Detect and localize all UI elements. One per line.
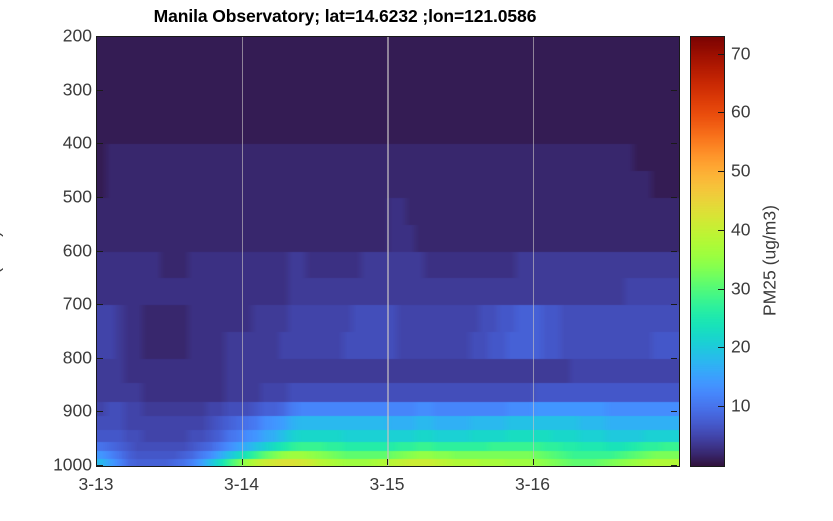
y-tick-label-700: 700 <box>63 294 92 315</box>
y-tick-label-1000: 1000 <box>53 455 92 476</box>
x-tick-mark-3-14 <box>242 459 243 465</box>
y-tick-label-400: 400 <box>63 133 92 154</box>
y-tick-mark-300 <box>671 90 677 91</box>
y-tick-mark-400 <box>671 143 677 144</box>
page-title: Manila Observatory; lat=14.6232 ;lon=121… <box>0 6 690 27</box>
y-tick-mark-900 <box>671 411 677 412</box>
y-tick-label-800: 800 <box>63 347 92 368</box>
y-tick-mark-300 <box>97 90 103 91</box>
y-tick-mark-400 <box>97 143 103 144</box>
y-tick-mark-900 <box>97 411 103 412</box>
heatmap-image <box>97 37 679 466</box>
colorbar-tick-label-40: 40 <box>731 219 750 240</box>
colorbar-tick-mark-70 <box>718 54 724 55</box>
y-tick-mark-500 <box>97 197 103 198</box>
x-tick-label-3-13: 3-13 <box>78 474 113 495</box>
x-tick-mark-3-15 <box>387 459 388 465</box>
colorbar <box>690 36 725 467</box>
colorbar-tick-mark-60 <box>718 112 724 113</box>
y-tick-label-900: 900 <box>63 401 92 422</box>
x-tick-label-3-14: 3-14 <box>224 474 259 495</box>
y-tick-mark-700 <box>97 304 103 305</box>
heatmap-axes <box>96 36 680 467</box>
colorbar-gradient <box>691 37 724 466</box>
colorbar-tick-label-70: 70 <box>731 43 750 64</box>
x-tick-label-3-16: 3-16 <box>515 474 550 495</box>
colorbar-tick-label-20: 20 <box>731 337 750 358</box>
x-tick-mark-3-16 <box>533 459 534 465</box>
y-tick-mark-200 <box>671 36 677 37</box>
colorbar-tick-label-10: 10 <box>731 396 750 417</box>
y-axis-label: P (hPa) <box>0 231 5 290</box>
y-tick-label-600: 600 <box>63 240 92 261</box>
x-tick-mark-3-13 <box>96 459 97 465</box>
colorbar-tick-label-30: 30 <box>731 278 750 299</box>
colorbar-tick-mark-10 <box>718 406 724 407</box>
y-tick-mark-1000 <box>97 465 103 466</box>
colorbar-tick-label-60: 60 <box>731 102 750 123</box>
y-tick-label-200: 200 <box>63 26 92 47</box>
colorbar-label: PM25 (ug/m3) <box>760 205 781 316</box>
colorbar-tick-mark-30 <box>718 289 724 290</box>
y-tick-mark-200 <box>97 36 103 37</box>
colorbar-tick-label-50: 50 <box>731 161 750 182</box>
x-tick-label-3-15: 3-15 <box>369 474 404 495</box>
y-tick-label-500: 500 <box>63 186 92 207</box>
y-tick-mark-700 <box>671 304 677 305</box>
y-tick-mark-600 <box>671 251 677 252</box>
y-tick-mark-600 <box>97 251 103 252</box>
y-tick-mark-500 <box>671 197 677 198</box>
figure-canvas: Manila Observatory; lat=14.6232 ;lon=121… <box>0 0 833 521</box>
y-tick-mark-800 <box>97 358 103 359</box>
colorbar-tick-mark-40 <box>718 230 724 231</box>
y-tick-mark-800 <box>671 358 677 359</box>
colorbar-tick-mark-50 <box>718 171 724 172</box>
y-tick-mark-1000 <box>671 465 677 466</box>
y-tick-label-300: 300 <box>63 79 92 100</box>
colorbar-tick-mark-20 <box>718 347 724 348</box>
